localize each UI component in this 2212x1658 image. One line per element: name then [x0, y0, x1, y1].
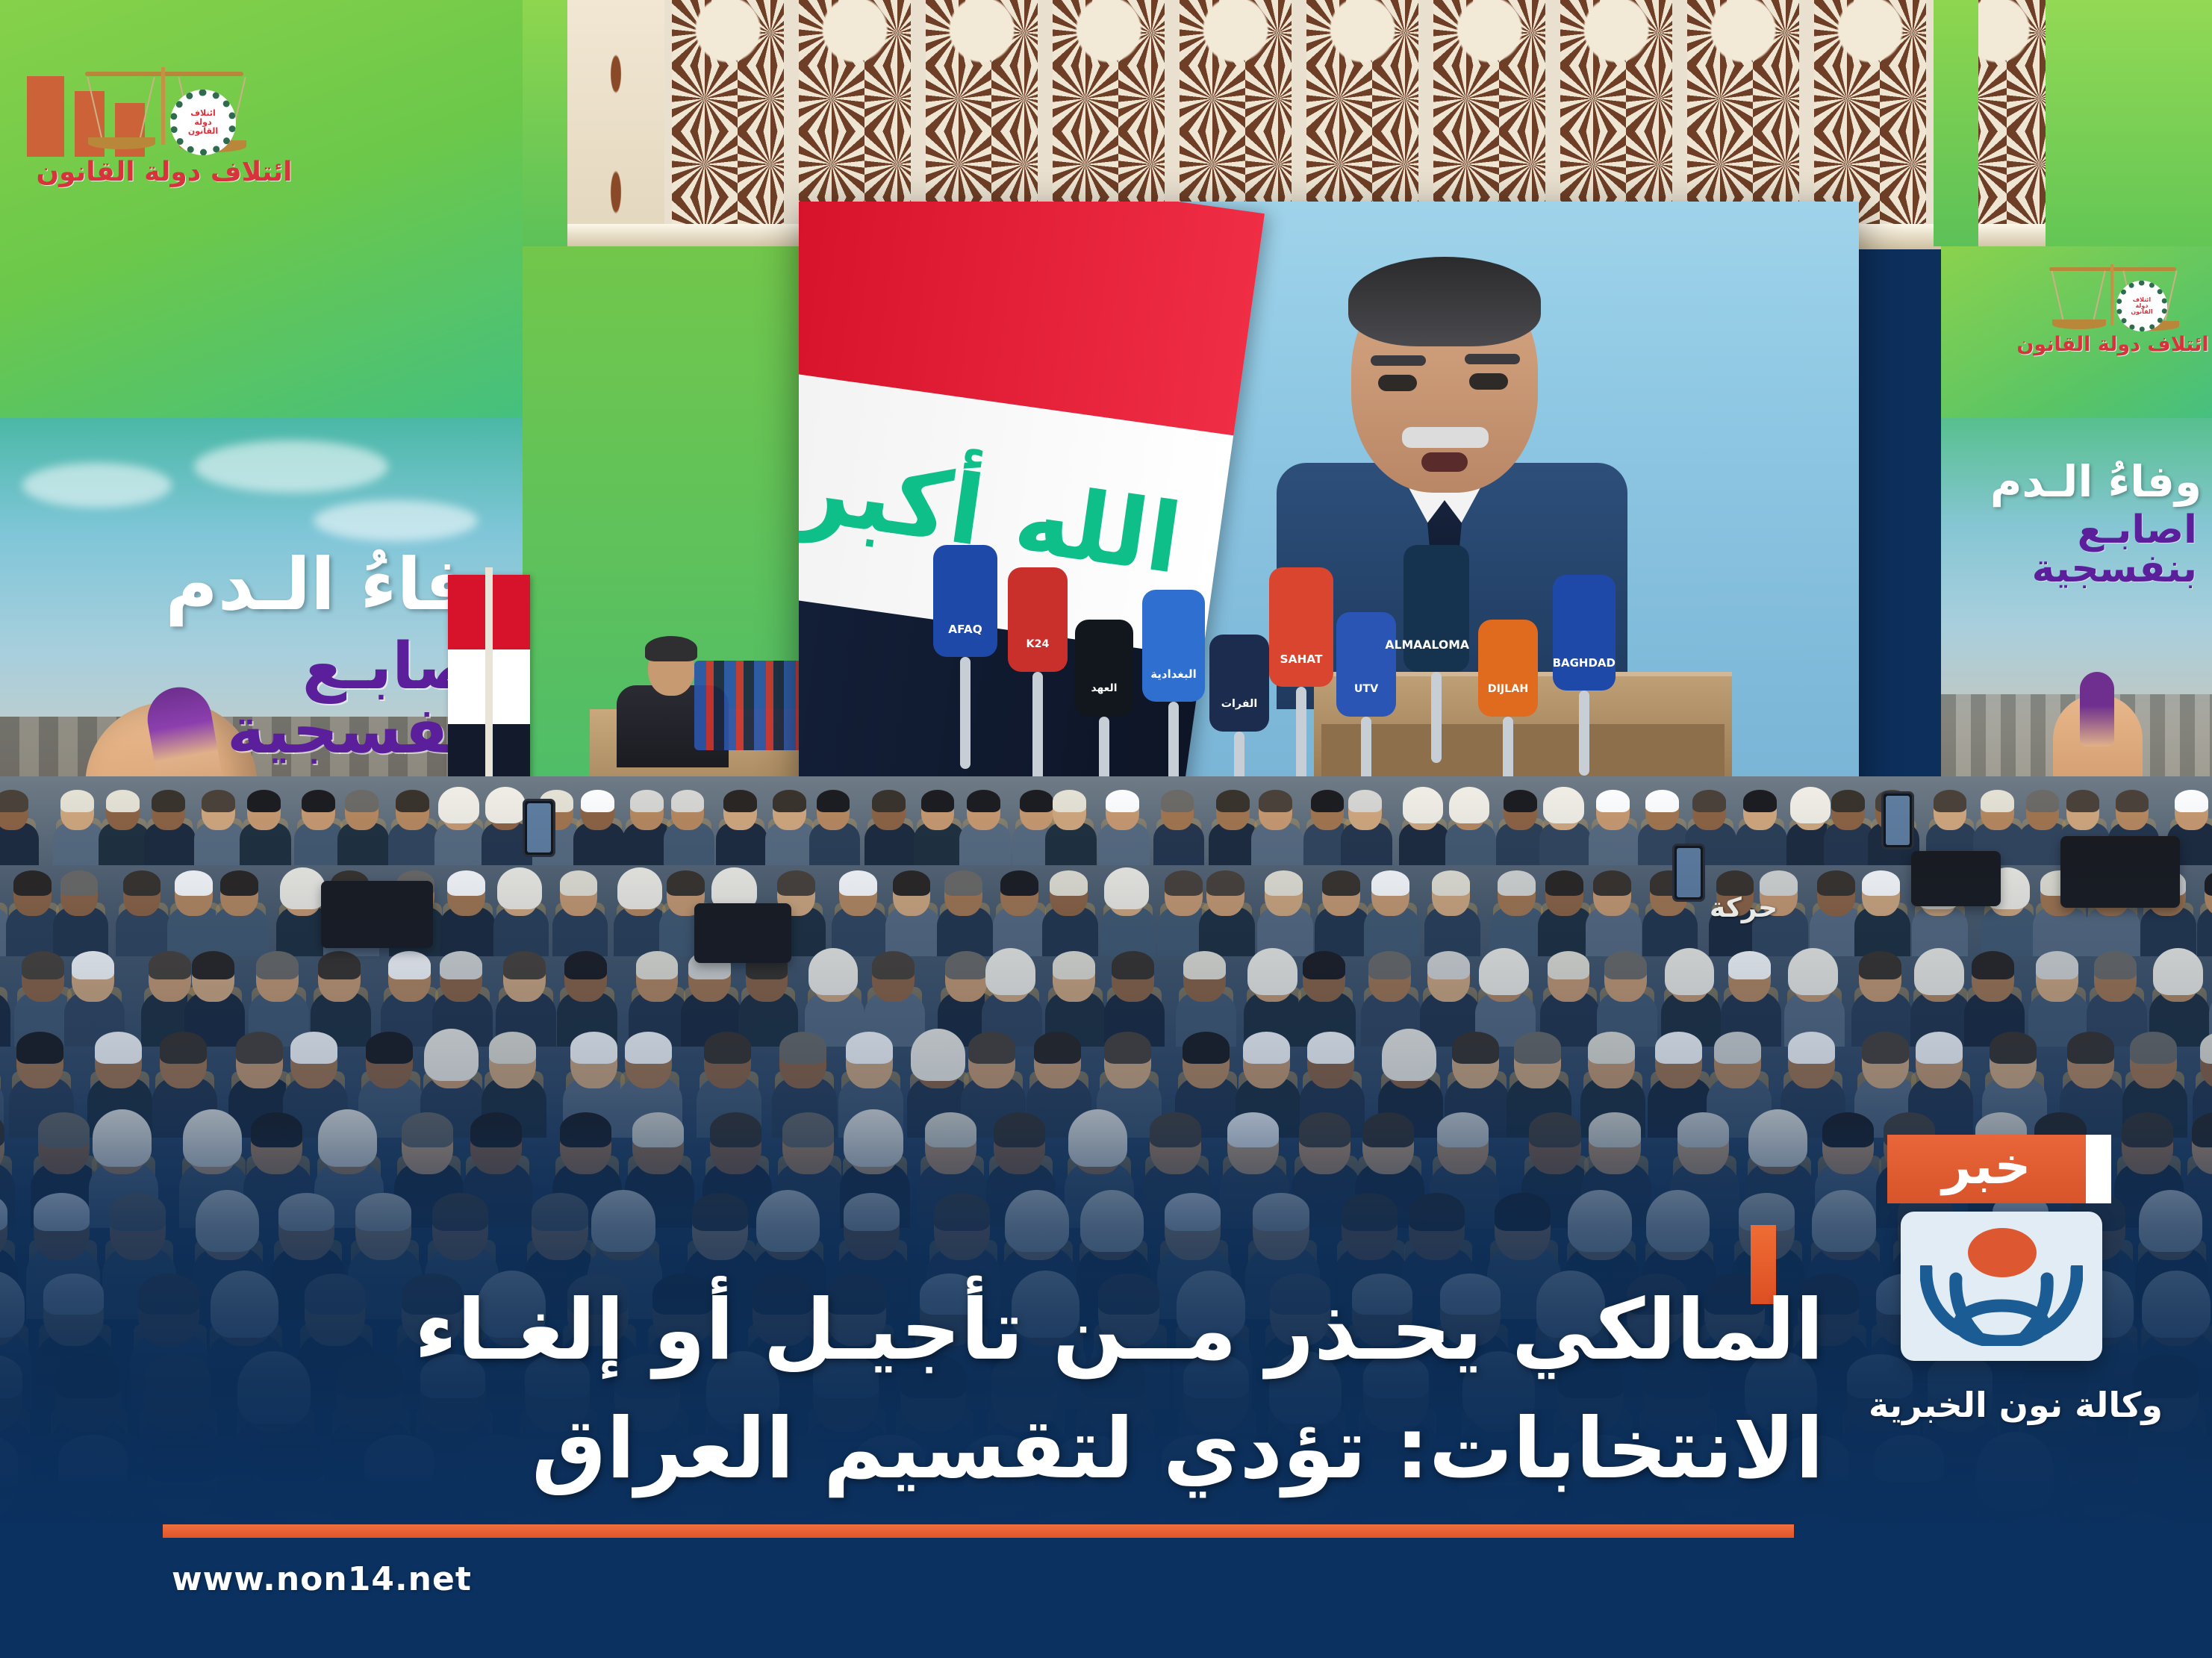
- scale-chain: [2164, 271, 2177, 321]
- microphone-label: العهد: [1075, 684, 1133, 694]
- emblem-inner-text: ائتلاف دولة القانون: [2126, 290, 2158, 322]
- scale-pan: [88, 137, 155, 149]
- iraqi-flag-on-screen: الله أكبر: [799, 202, 1265, 791]
- coalition-emblem-left: ائتلاف دولة القانون ائتلاف دولة القانون: [75, 43, 254, 170]
- carved-stone-panel: [567, 0, 664, 246]
- microphone-label: DIJLAH: [1478, 684, 1538, 694]
- led-video-screen: الله أكبر AFAQK24العهدالبغداديةالفراتSAH…: [799, 202, 1859, 791]
- microphone: AFAQ: [933, 545, 997, 657]
- poster-slogan-line1: وفاءُ الـدم: [7, 549, 515, 620]
- microphone: الفرات: [1209, 635, 1269, 732]
- microphone: K24: [1008, 567, 1068, 672]
- news-graphic-card: ائتلاف دولة القانون ائتلاف دولة القانون …: [0, 0, 2212, 1658]
- speaker-eye: [1378, 375, 1417, 391]
- footer-divider-rule: [163, 1524, 1794, 1538]
- green-pillar: [1934, 0, 1978, 246]
- campaign-poster-right: وفاءُ الـدم اصابـع بنفسجية: [1941, 418, 2212, 836]
- speaker-eyebrow: [1465, 354, 1520, 364]
- microphone-stem: [1431, 672, 1442, 763]
- green-pillar: [523, 0, 567, 246]
- cloud: [22, 463, 172, 508]
- purple-inked-finger: [2080, 672, 2114, 747]
- headline-block: المالكي يحـذر مــن تأجيـل أو إلغـاء الان…: [159, 1271, 1824, 1509]
- scale-post: [161, 67, 165, 145]
- stage-speaker-hair: [645, 636, 697, 661]
- speaker-eyebrow: [1371, 355, 1426, 366]
- coalition-name-right: ائتلاف دولة القانون: [2007, 333, 2212, 356]
- scale-chain: [2093, 271, 2105, 321]
- emblem-inner-text: ائتلاف دولة القانون: [182, 102, 224, 143]
- noon-monogram-icon: [1920, 1265, 2083, 1346]
- microphone-stem: [960, 657, 971, 769]
- microphone-label: الفرات: [1209, 699, 1269, 709]
- cloud: [194, 440, 388, 493]
- microphone-label: UTV: [1336, 684, 1396, 694]
- speaker-eye: [1469, 373, 1508, 390]
- headline-line-2: الانتخابات: تؤدي لتقسيم العراق: [159, 1390, 1824, 1509]
- microphone: SAHAT: [1269, 567, 1333, 687]
- microphone: البغدادية: [1142, 590, 1205, 702]
- poster-slogan-line2: اصابـع بنفسجية: [1951, 511, 2197, 588]
- microphone: DIJLAH: [1478, 620, 1538, 717]
- news-badge-label: خبر: [1887, 1135, 2086, 1203]
- microphone-label: البغدادية: [1142, 669, 1205, 680]
- scale-chain: [2051, 271, 2063, 321]
- scale-chain: [87, 77, 102, 140]
- headline-line-1: المالكي يحـذر مــن تأجيـل أو إلغـاء: [159, 1271, 1824, 1390]
- speaker-moustache: [1402, 427, 1489, 448]
- agency-name: وكالة نون الخبرية: [1822, 1385, 2210, 1425]
- green-backdrop-top-right: [2046, 0, 2212, 246]
- microphone: UTV: [1336, 612, 1396, 717]
- microphone-label: AFAQ: [933, 624, 997, 635]
- website-url[interactable]: www.non14.net: [172, 1560, 472, 1598]
- mashrabiya-screen: [672, 0, 784, 246]
- microphone: BAGHDAD: [1553, 575, 1616, 691]
- microphone-label: SAHAT: [1269, 654, 1333, 665]
- microphone-stem: [1296, 687, 1306, 784]
- scale-pan: [2052, 320, 2106, 329]
- poster-slogan-line1: وفاءُ الـدم: [1944, 460, 2202, 503]
- vest-text: حركة: [1710, 893, 1778, 923]
- speaker-mouth: [1421, 452, 1468, 472]
- news-badge: خبر: [1887, 1135, 2111, 1203]
- scale-post: [2110, 264, 2113, 325]
- microphone-stem: [1579, 691, 1589, 776]
- microphone-label: BAGHDAD: [1553, 658, 1616, 669]
- poster-slogan-line2: اصابـع بنفسجية: [7, 635, 500, 763]
- microphone: ALMAALOMA: [1403, 545, 1469, 672]
- coalition-emblem-right: ائتلاف دولة القانون ائتلاف دولة القانون: [2042, 246, 2184, 351]
- microphone-stem: [1032, 672, 1043, 781]
- coalition-name-left: ائتلاف دولة القانون: [33, 157, 296, 187]
- microphone-label: ALMAALOMA: [1403, 639, 1469, 651]
- speaker-hair: [1348, 257, 1541, 346]
- led-screen-content: الله أكبر AFAQK24العهدالبغداديةالفراتSAH…: [799, 202, 1859, 791]
- news-badge-tail: [2086, 1135, 2111, 1203]
- microphone-label: K24: [1008, 639, 1068, 649]
- cloud: [314, 500, 478, 541]
- scale-chain: [139, 77, 155, 140]
- agency-logo-tile[interactable]: [1901, 1212, 2102, 1361]
- microphone: العهد: [1075, 620, 1133, 717]
